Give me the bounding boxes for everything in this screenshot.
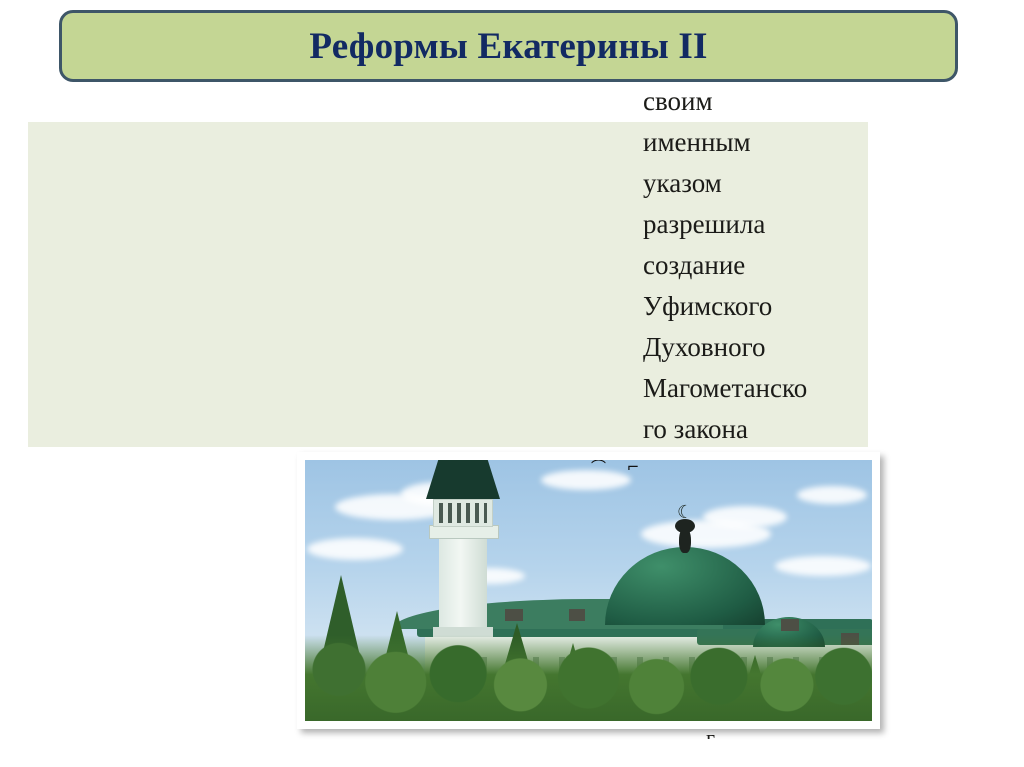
crescent-icon: ☾ (677, 503, 693, 521)
roof-vent (505, 609, 523, 621)
body-text-line: именным (643, 122, 871, 163)
body-text-line: го закона (643, 409, 871, 450)
body-text-line: создание (643, 245, 871, 286)
minaret-balcony (429, 525, 499, 539)
mosque-photo: ⌒ ⌐ ☾ (305, 460, 872, 721)
foliage-band (305, 635, 872, 721)
bottom-cut-text: г (706, 727, 746, 739)
body-text-line: указом (643, 163, 871, 204)
minaret-windows (439, 503, 487, 523)
minaret-spire (426, 460, 500, 499)
cloud-shape (775, 556, 871, 576)
cloud-shape (703, 506, 787, 528)
birds-icon: ⌒ ⌐ (591, 460, 647, 477)
page-title: Реформы Екатерины II (309, 28, 707, 65)
body-text-line: Уфимского (643, 286, 871, 327)
minaret-shaft (439, 537, 487, 633)
slide-title-box: Реформы Екатерины II (59, 10, 958, 82)
mosque-photo-frame: ⌒ ⌐ ☾ (297, 452, 880, 729)
top-cut-text: 1788 (638, 0, 748, 2)
cloud-shape (307, 538, 403, 560)
mosque-dome (605, 547, 765, 625)
body-text-line: Магометанско (643, 368, 871, 409)
body-text-block: своим именным указом разрешила создание … (643, 81, 871, 491)
roof-vent (781, 619, 799, 631)
body-text-line: своим (643, 81, 871, 122)
body-text-line: разрешила (643, 204, 871, 245)
cloud-shape (797, 486, 867, 504)
body-text-line: Духовного (643, 327, 871, 368)
roof-vent (569, 609, 585, 621)
